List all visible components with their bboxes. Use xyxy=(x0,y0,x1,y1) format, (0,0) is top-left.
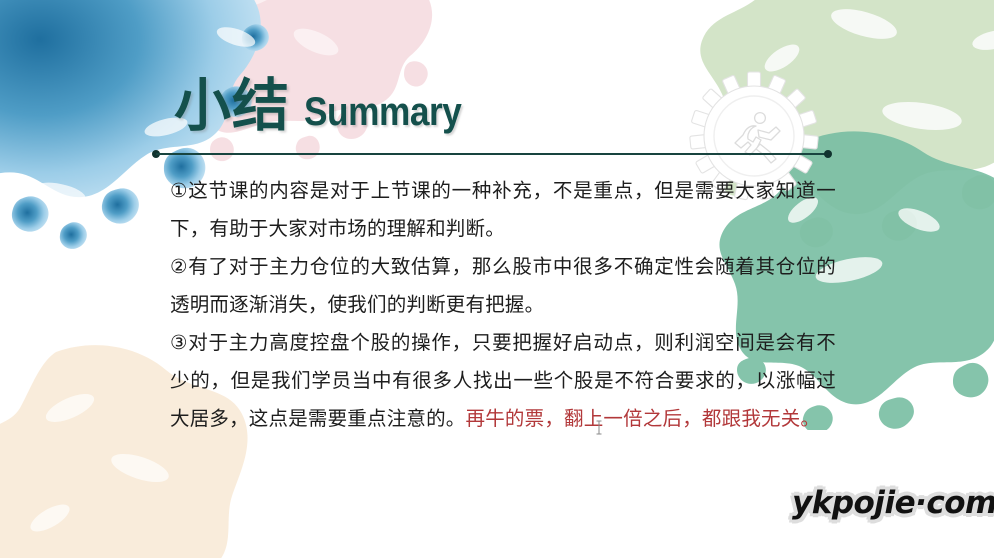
watermark: ykpojie·com xyxy=(792,485,994,521)
summary-highlight-text: 再牛的票，翻上一倍之后，都跟我无关。 xyxy=(466,407,821,430)
divider-line xyxy=(156,153,828,155)
page-title-chinese: 小结 xyxy=(174,78,290,135)
summary-paragraph-3: ③对于主力高度控盘个股的操作，只要把握好启动点，则利润空间是会有不少的，但是我们… xyxy=(170,324,836,438)
title-divider xyxy=(152,152,832,155)
summary-body-text: ①这节课的内容是对于上节课的一种补充，不是重点，但是需要大家知道一下，有助于大家… xyxy=(170,172,836,438)
page-title: 小结 Summary xyxy=(174,78,483,135)
page-title-english: Summary xyxy=(304,92,461,132)
summary-paragraph-2: ②有了对于主力仓位的大致估算，那么股市中很多不确定性会随着其仓位的透明而逐渐消失… xyxy=(170,248,836,324)
summary-paragraph-1: ①这节课的内容是对于上节课的一种补充，不是重点，但是需要大家知道一下，有助于大家… xyxy=(170,172,836,248)
slide-canvas: 小结 Summary ①这节课的内容是对于上节课的一种补充，不是重点，但是需要大… xyxy=(0,0,994,558)
divider-dot-right xyxy=(824,150,832,158)
